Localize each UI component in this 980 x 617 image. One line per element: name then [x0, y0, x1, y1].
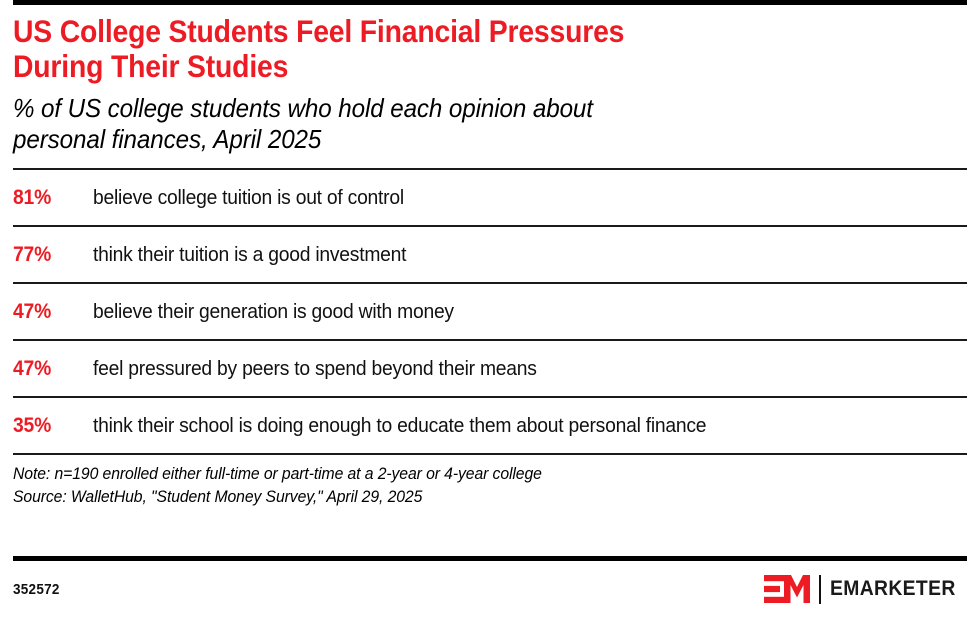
row-value: 81% [13, 186, 87, 210]
logo-wordmark: EMARKETER [830, 577, 956, 601]
source-text: Source: WalletHub, "Student Money Survey… [13, 486, 924, 509]
chart-title: US College Students Feel Financial Press… [13, 14, 872, 83]
chart-footer: 352572 EMARKETER [13, 561, 967, 617]
data-rows: 81% believe college tuition is out of co… [13, 168, 967, 455]
row-label: believe college tuition is out of contro… [93, 186, 404, 210]
row-label: believe their generation is good with mo… [93, 300, 454, 324]
row-value: 35% [13, 414, 87, 438]
row-value: 47% [13, 357, 87, 381]
row-label: think their tuition is a good investment [93, 243, 406, 267]
chart-notes: Note: n=190 enrolled either full-time or… [13, 455, 967, 556]
emarketer-logo: EMARKETER [764, 574, 967, 604]
table-row: 81% believe college tuition is out of co… [13, 170, 967, 225]
table-row: 77% think their tuition is a good invest… [13, 227, 967, 282]
table-row: 47% believe their generation is good wit… [13, 284, 967, 339]
table-row: 47% feel pressured by peers to spend bey… [13, 341, 967, 396]
chart-header: US College Students Feel Financial Press… [13, 5, 967, 154]
row-label: feel pressured by peers to spend beyond … [93, 357, 537, 381]
chart-card: US College Students Feel Financial Press… [0, 0, 980, 617]
chart-id: 352572 [13, 581, 60, 598]
chart-subtitle: % of US college students who hold each o… [13, 93, 900, 154]
table-row: 35% think their school is doing enough t… [13, 398, 967, 453]
note-text: Note: n=190 enrolled either full-time or… [13, 463, 924, 486]
row-value: 47% [13, 300, 87, 324]
emarketer-monogram-icon [764, 574, 810, 604]
row-value: 77% [13, 243, 87, 267]
logo-divider [819, 575, 821, 604]
row-label: think their school is doing enough to ed… [93, 414, 706, 438]
